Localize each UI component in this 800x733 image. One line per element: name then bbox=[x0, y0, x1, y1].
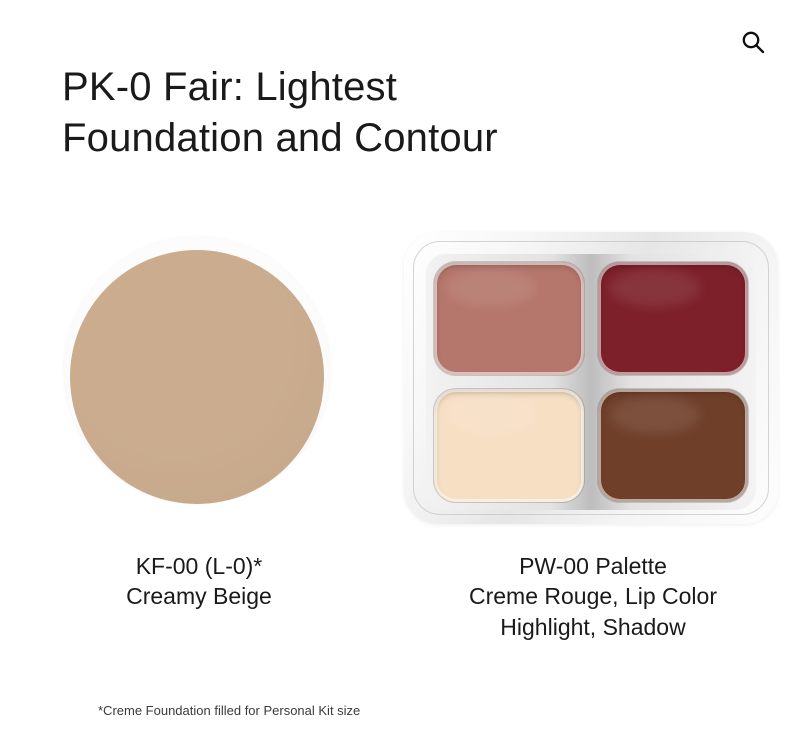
foundation-pan-creamy-beige bbox=[70, 250, 324, 504]
palette-pan-lip-color[interactable] bbox=[598, 262, 748, 375]
palette-case bbox=[404, 232, 778, 524]
palette-pan-grid bbox=[426, 254, 756, 510]
foundation-compact-rim bbox=[64, 236, 330, 502]
product-pw00-palette[interactable] bbox=[404, 228, 782, 528]
page-title: PK-0 Fair: Lightest Foundation and Conto… bbox=[62, 62, 762, 164]
product-foundation-compact[interactable] bbox=[64, 228, 334, 528]
palette-pan-highlight[interactable] bbox=[434, 389, 584, 502]
palette-pan-creme-rouge[interactable] bbox=[434, 262, 584, 375]
palette-pan-shadow[interactable] bbox=[598, 389, 748, 502]
search-button[interactable] bbox=[736, 25, 770, 59]
caption-foundation: KF-00 (L-0)* Creamy Beige bbox=[64, 551, 334, 612]
caption-palette: PW-00 Palette Creme Rouge, Lip Color Hig… bbox=[404, 551, 782, 642]
search-icon bbox=[740, 29, 766, 55]
product-image-row bbox=[0, 228, 800, 528]
footnote: *Creme Foundation filled for Personal Ki… bbox=[98, 702, 360, 720]
